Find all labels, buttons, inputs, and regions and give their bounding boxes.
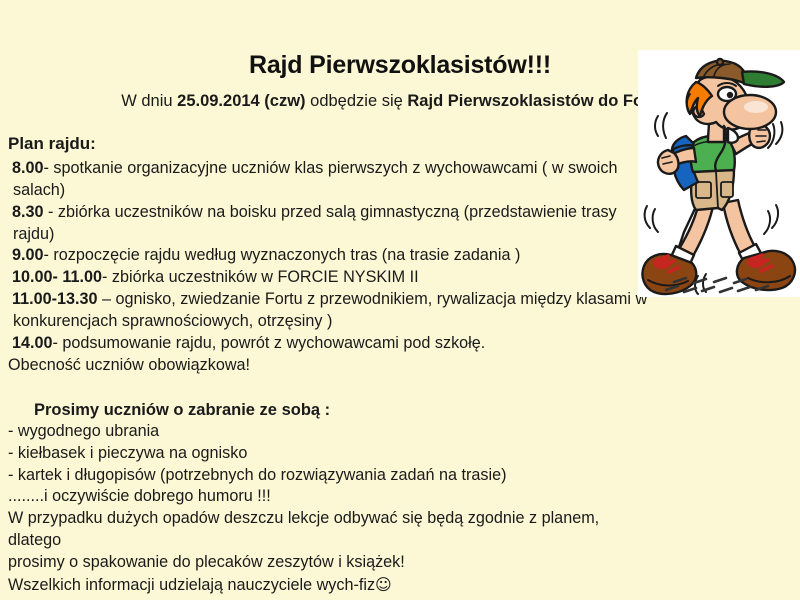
rain-note-line: W przypadku dużych opadów deszczu lekcje… [8,508,648,552]
smiley-icon: ☺ [375,575,392,594]
schedule-item: 11.00-13.30 – ognisko, zwiedzanie Fortu … [8,289,648,333]
schedule-text: - zbiórka uczestników na boisku przed sa… [13,203,617,243]
schedule-item: 14.00- podsumowanie rajdu, powrót z wych… [8,333,648,355]
schedule-time: 8.30 [12,203,44,221]
info-note-text: Wszelkich informacji udzielają nauczycie… [8,576,375,594]
body-content: Plan rajdu: 8.00- spotkanie organizacyjn… [8,133,648,597]
schedule-time: 8.00 [12,159,44,177]
schedule-item: 9.00- rozpoczęcie rajdu według wyznaczon… [8,245,648,267]
bring-item: - kiełbasek i pieczywa na ognisko [8,443,648,465]
schedule-text: - podsumowanie rajdu, powrót z wychowawc… [53,334,486,352]
schedule-time: 14.00 [12,334,53,352]
bring-item: ........i oczywiście dobrego humoru !!! [8,486,648,508]
bring-item: - kartek i długopisów (potrzebnych do ro… [8,465,648,487]
subtitle-date: 25.09.2014 (czw) [177,92,305,110]
schedule-item: 10.00- 11.00- zbiórka uczestników w FORC… [8,267,648,289]
plan-heading: Plan rajdu: [8,133,648,156]
bring-item: - wygodnego ubrania [8,421,648,443]
schedule-text: - rozpoczęcie rajdu według wyznaczonych … [44,246,521,264]
schedule-item: 8.00- spotkanie organizacyjne uczniów kl… [8,158,648,202]
subtitle-part2: odbędzie się [306,92,408,110]
schedule-text: – ognisko, zwiedzanie Fortu z przewodnik… [13,290,647,330]
schedule-text: - zbiórka uczestników w FORCIE NYSKIM II [102,268,419,286]
subtitle-part1: W dniu [121,92,177,110]
schedule-item: 8.30 - zbiórka uczestników na boisku prz… [8,202,648,246]
bring-heading: Prosimy uczniów o zabranie ze sobą : [8,399,648,421]
hiker-illustration [638,50,800,297]
attendance-note: Obecność uczniów obowiązkowa! [8,355,648,377]
hiker-icon [638,50,800,297]
spacer [8,377,648,399]
info-note: Wszelkich informacji udzielają nauczycie… [8,574,648,597]
schedule-time: 10.00- 11.00 [12,268,102,286]
rain-note-line: prosimy o spakowanie do plecaków zeszytó… [8,552,648,574]
schedule-time: 9.00 [12,246,44,264]
schedule-time: 11.00-13.30 [12,290,98,308]
schedule-text: - spotkanie organizacyjne uczniów klas p… [13,159,617,199]
slide-canvas: Rajd Pierwszoklasistów!!! W dniu 25.09.2… [0,0,800,600]
